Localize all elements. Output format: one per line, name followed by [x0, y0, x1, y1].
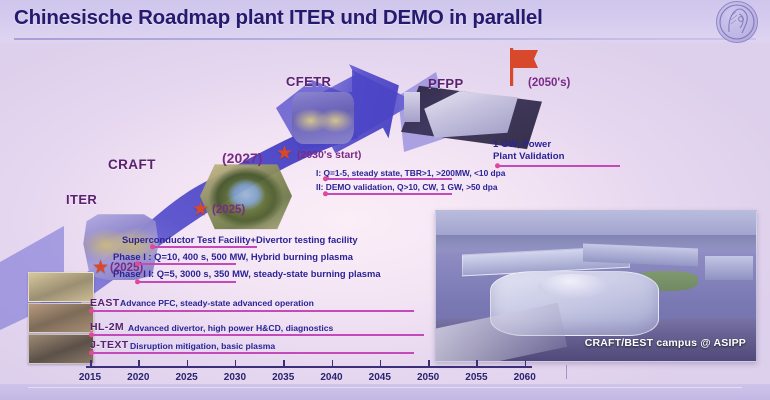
- device-desc-jtext: Disruption mitigation, basic plasma: [130, 341, 275, 351]
- star-icon-iter: ★: [92, 258, 109, 277]
- star-icon-craft: ★: [192, 200, 209, 219]
- hl2m-device-photo: [28, 303, 94, 333]
- timeline-year-2040: 2040: [320, 372, 342, 383]
- craft-facility-image: [200, 160, 292, 232]
- timeline-tick-2055: [476, 360, 478, 367]
- pfpp-note-line-1: 1 GW, Power: [493, 139, 551, 150]
- pfpp-marker-year: (2050's): [528, 77, 570, 89]
- craft-line-1-dot: [150, 244, 155, 249]
- craft-line-3-bar: [136, 281, 236, 283]
- cfetr-tokamak-image: [292, 92, 354, 144]
- craft-line-3-text: Phase I I: Q=5, 3000 s, 350 MW, steady-s…: [113, 268, 381, 279]
- timeline-year-2060: 2060: [514, 372, 536, 383]
- timeline-tick-2045: [380, 360, 382, 367]
- device-label-hl2m: HL-2M: [90, 321, 124, 333]
- stage-label-iter: ITER: [66, 192, 97, 207]
- timeline-year-2025: 2025: [175, 372, 197, 383]
- timeline-tick-2025: [187, 360, 189, 367]
- page-title: Chinesische Roadmap plant ITER und DEMO …: [14, 6, 543, 30]
- craft-line-1-bar: [151, 246, 257, 248]
- cfetr-phase-1-text: I: Q=1-5, steady state, TBR>1, >200MW, <…: [316, 168, 505, 178]
- slide-caret: [566, 365, 567, 379]
- timeline-year-2030: 2030: [224, 372, 246, 383]
- device-label-east: EAST: [90, 297, 120, 309]
- cfetr-phase-2-dot: [323, 191, 328, 196]
- stage-label-cfetr: CFETR: [286, 74, 331, 89]
- star-icon-cfetr: ★: [276, 144, 293, 163]
- pfpp-cooling-stacks-image: [404, 92, 420, 122]
- device-bar-jtext-dot: [89, 350, 94, 355]
- craft-best-campus-photo: CRAFT/BEST campus @ ASIPP: [435, 210, 757, 362]
- timeline-tick-2060: [525, 360, 527, 367]
- timeline-axis: [86, 366, 532, 368]
- timeline-tick-2035: [283, 360, 285, 367]
- craft-line-1-text: Superconductor Test Facility+Divertor te…: [122, 234, 358, 245]
- photo-atrium-dome: [538, 274, 608, 298]
- east-device-photo: [28, 272, 94, 302]
- craft-line-2-bar: [136, 263, 236, 265]
- stage-label-pfpp: PFPP: [428, 76, 464, 91]
- craft-marker-year: (2025): [212, 204, 245, 216]
- max-planck-minerva-logo: [716, 1, 758, 43]
- timeline-tick-2040: [332, 360, 334, 367]
- device-bar-east-dot: [89, 308, 94, 313]
- timeline-tick-2030: [235, 360, 237, 367]
- device-bar-hl2m: [90, 334, 424, 336]
- timeline-year-2035: 2035: [272, 372, 294, 383]
- device-desc-east: Advance PFC, steady-state advanced opera…: [120, 298, 314, 308]
- photo-building-c: [705, 256, 753, 280]
- existing-devices-photo-stack: [28, 272, 92, 364]
- slide-header: Chinesische Roadmap plant ITER und DEMO …: [0, 0, 770, 42]
- pfpp-note-line-2: Plant Validation: [493, 151, 564, 162]
- device-bar-east: [90, 310, 414, 312]
- stage-label-craft: CRAFT: [108, 157, 156, 172]
- device-label-jtext: J-TEXT: [90, 339, 129, 351]
- craft-arrow-year: (2027): [222, 150, 262, 166]
- cfetr-marker-year: (2030's start): [297, 149, 361, 161]
- timeline-year-2020: 2020: [127, 372, 149, 383]
- craft-line-2-dot: [135, 261, 140, 266]
- cfetr-phase-1-bar: [324, 178, 452, 180]
- craft-line-2-text: Phase I : Q=10, 400 s, 500 MW, Hybrid bu…: [113, 251, 353, 262]
- pfpp-bar-dot: [495, 163, 500, 168]
- timeline-tick-2020: [138, 360, 140, 367]
- device-bar-hl2m-dot: [89, 332, 94, 337]
- cfetr-phase-1-dot: [323, 176, 328, 181]
- device-desc-hl2m: Advanced divertor, high power H&CD, diag…: [128, 323, 333, 333]
- timeline-year-2050: 2050: [417, 372, 439, 383]
- pfpp-bar: [496, 165, 620, 167]
- slide-footer-line: [28, 387, 742, 388]
- header-divider: [14, 38, 756, 40]
- device-bar-jtext: [90, 352, 414, 354]
- photo-caption: CRAFT/BEST campus @ ASIPP: [585, 337, 746, 349]
- slide-canvas: Chinesische Roadmap plant ITER und DEMO …: [0, 0, 770, 400]
- jtext-device-photo: [28, 334, 94, 364]
- cfetr-phase-2-bar: [324, 193, 452, 195]
- cfetr-phase-2-text: II: DEMO validation, Q>10, CW, 1 GW, >50…: [316, 182, 498, 192]
- timeline-tick-2050: [428, 360, 430, 367]
- timeline-tick-2015: [90, 360, 92, 367]
- craft-line-3-dot: [135, 279, 140, 284]
- timeline-year-2045: 2045: [369, 372, 391, 383]
- timeline-year-2055: 2055: [465, 372, 487, 383]
- timeline-year-2015: 2015: [79, 372, 101, 383]
